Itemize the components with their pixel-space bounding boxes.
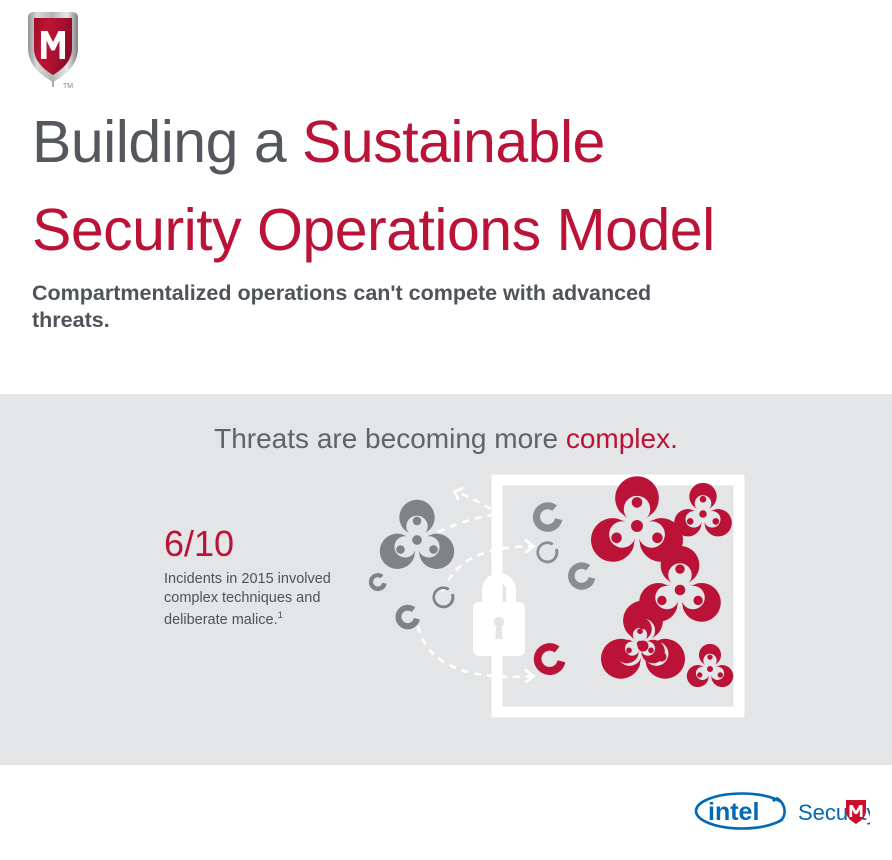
- section-heading-gray: Threats are becoming more: [214, 423, 566, 454]
- hero-section: TM Building a Sustainable Security Opera…: [0, 0, 892, 394]
- section-heading: Threats are becoming more complex.: [0, 423, 892, 455]
- threats-section: Threats are becoming more complex. 6/10 …: [0, 394, 892, 765]
- threat-containment-diagram: [360, 474, 760, 724]
- title-line-1: Building a Sustainable: [32, 98, 872, 186]
- contained-active-threats: [534, 476, 737, 691]
- trademark-mark: TM: [63, 83, 73, 90]
- intel-wordmark: intel: [708, 798, 759, 826]
- biohazard-icon-inside-6: [683, 644, 737, 691]
- stat-figure: 6/10: [164, 523, 364, 565]
- crescent-icon-outside-1: [369, 573, 387, 591]
- biohazard-icon-inside-2: [669, 483, 737, 542]
- biohazard-icon-outside-1: [373, 500, 460, 576]
- stat-block: 6/10 Incidents in 2015 involved complex …: [164, 523, 364, 629]
- footer: intel Security: [0, 765, 892, 860]
- intel-security-logo: intel Security: [694, 790, 870, 832]
- stat-caption: Incidents in 2015 involved complex techn…: [164, 570, 364, 629]
- mcafee-shield-logo: TM: [14, 6, 102, 90]
- external-threats: [369, 500, 461, 630]
- footnote-marker: 1: [278, 610, 283, 621]
- page-subtitle: Compartmentalized operations can't compe…: [32, 280, 732, 334]
- crescent-icon-inside-1: [533, 502, 562, 532]
- title-part-building: Building a: [32, 109, 302, 175]
- contained-neutral-threats: [533, 502, 595, 590]
- title-part-sustainable: Sustainable: [302, 109, 605, 175]
- stat-caption-text: Incidents in 2015 involved complex techn…: [164, 571, 331, 628]
- page-title: Building a Sustainable Security Operatio…: [32, 98, 872, 274]
- title-line-2: Security Operations Model: [32, 186, 872, 274]
- section-heading-red: complex.: [566, 423, 678, 454]
- crescent-icon-outside-2: [395, 605, 419, 630]
- ring-icon-inside-1: [536, 541, 558, 563]
- crescent-icon-inside-2: [568, 562, 595, 590]
- crescent-icon-inside-red-1: [534, 643, 566, 675]
